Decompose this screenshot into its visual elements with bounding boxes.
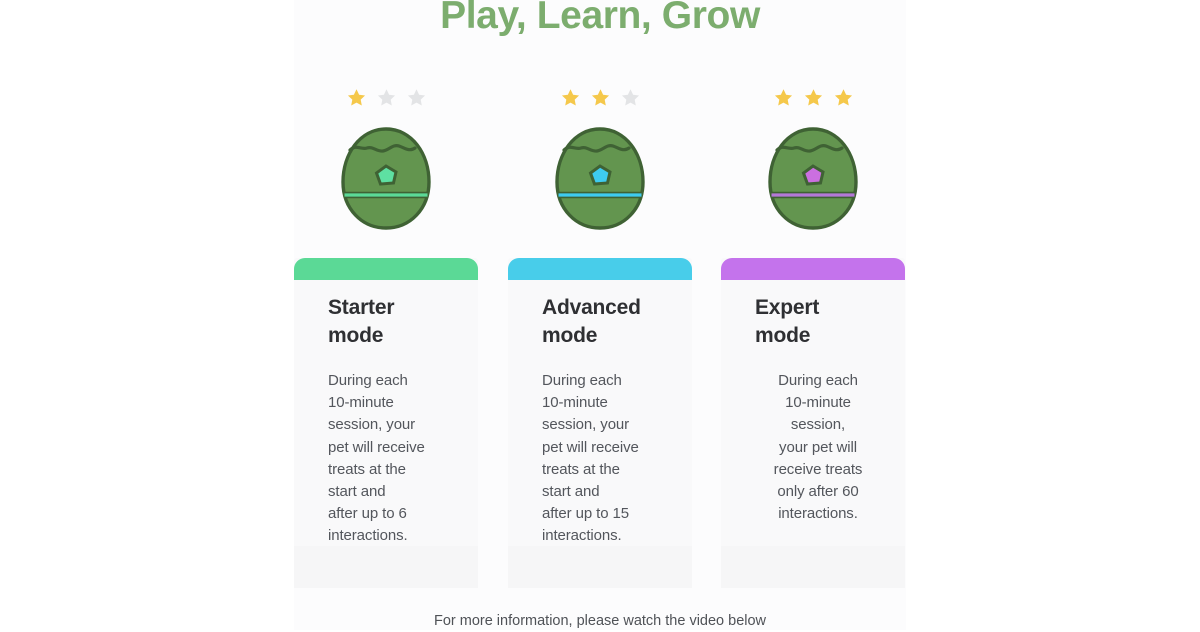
star-filled-icon	[591, 88, 610, 107]
mode-card-advanced[interactable]: Advanced mode During each 10-minute sess…	[508, 258, 692, 588]
footnote-text: For more information, please watch the v…	[294, 610, 906, 632]
star-3	[407, 88, 426, 107]
egg-icon	[540, 124, 660, 234]
egg-illustration-starter	[326, 124, 446, 234]
mode-card-expert[interactable]: Expert mode During each 10-minute sessio…	[721, 258, 905, 588]
star-1	[774, 88, 793, 107]
star-filled-icon	[834, 88, 853, 107]
star-filled-icon	[561, 88, 580, 107]
star-3	[621, 88, 640, 107]
egg-icon	[326, 124, 446, 234]
card-accent-strip	[294, 258, 478, 280]
card-title: Starter mode	[328, 294, 468, 350]
star-3	[834, 88, 853, 107]
star-1	[347, 88, 366, 107]
card-description: During each 10-minute session, your pet …	[743, 370, 893, 525]
rating-stars-expert	[753, 84, 873, 110]
rating-stars-advanced	[540, 84, 660, 110]
card-title: Advanced mode	[542, 294, 682, 350]
card-accent-strip	[721, 258, 905, 280]
star-2	[804, 88, 823, 107]
star-filled-icon	[774, 88, 793, 107]
star-empty-icon	[407, 88, 426, 107]
page-stage: Play, Learn, Grow Starter	[0, 0, 1200, 630]
card-title: Expert mode	[755, 294, 895, 350]
rating-stars-starter	[326, 84, 446, 110]
card-footer	[721, 546, 905, 588]
star-2	[591, 88, 610, 107]
card-footer	[294, 546, 478, 588]
star-2	[377, 88, 396, 107]
egg-illustration-expert	[753, 124, 873, 234]
egg-icon	[753, 124, 873, 234]
star-empty-icon	[377, 88, 396, 107]
card-accent-strip	[508, 258, 692, 280]
egg-illustration-advanced	[540, 124, 660, 234]
star-filled-icon	[804, 88, 823, 107]
star-filled-icon	[347, 88, 366, 107]
card-description: During each 10-minute session, your pet …	[542, 370, 672, 548]
star-1	[561, 88, 580, 107]
card-footer	[508, 546, 692, 588]
mode-card-starter[interactable]: Starter mode During each 10-minute sessi…	[294, 258, 478, 588]
star-empty-icon	[621, 88, 640, 107]
card-description: During each 10-minute session, your pet …	[328, 370, 458, 548]
page-title: Play, Learn, Grow	[294, 0, 906, 40]
